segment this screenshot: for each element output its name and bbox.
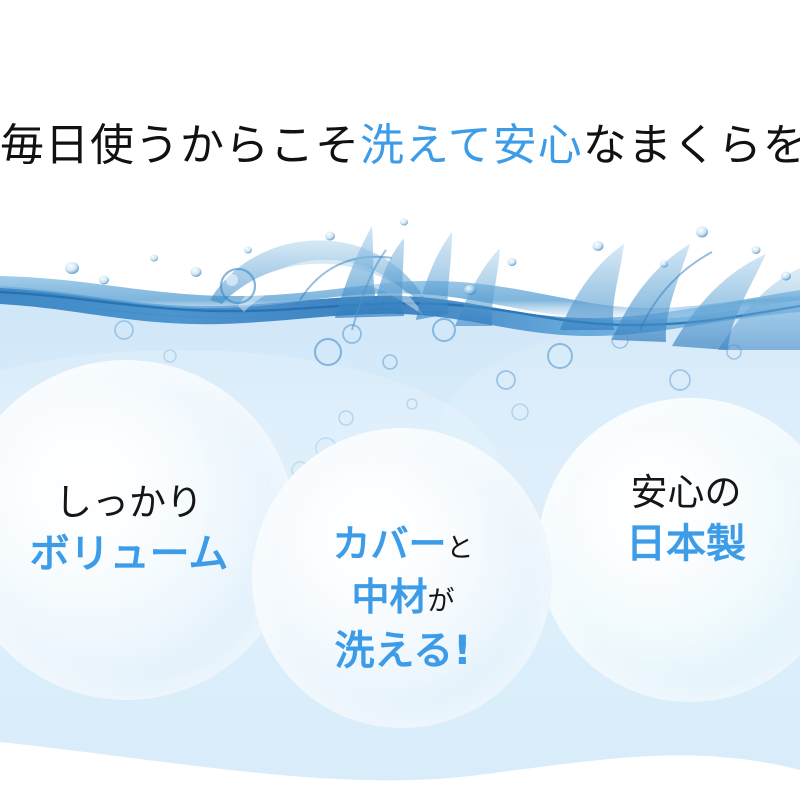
headline-accent: 洗えて安心 [360,121,583,170]
feature-volume-line1: しっかり [0,478,258,528]
feature-washable-line2-particle: が [428,586,455,617]
water-splash-centre [335,226,500,330]
feature-washable-line1-accent: カバー [332,522,446,566]
promo-banner: 毎日使うからこそ洗えて安心なまくらを しっかり ボリューム カバーと 中材が 洗… [0,0,800,800]
feature-washable-line1-particle: と [447,533,474,564]
feature-japan-line2: 日本製 [548,518,800,570]
headline-tail: なまくらを [583,121,800,170]
page-headline: 毎日使うからこそ洗えて安心なまくらを [0,118,800,174]
headline-lead: 毎日使うからこそ [0,121,360,170]
feature-japan-line1: 安心の [548,468,800,518]
feature-caption-washable: カバーと 中材が 洗える! [258,520,548,676]
feature-caption-made-in-japan: 安心の 日本製 [548,468,800,570]
feature-washable-line2-accent: 中材 [351,575,427,619]
feature-volume-line2: ボリューム [0,528,258,580]
feature-washable-line3: 洗える! [258,626,548,676]
feature-caption-volume: しっかり ボリューム [0,478,258,580]
